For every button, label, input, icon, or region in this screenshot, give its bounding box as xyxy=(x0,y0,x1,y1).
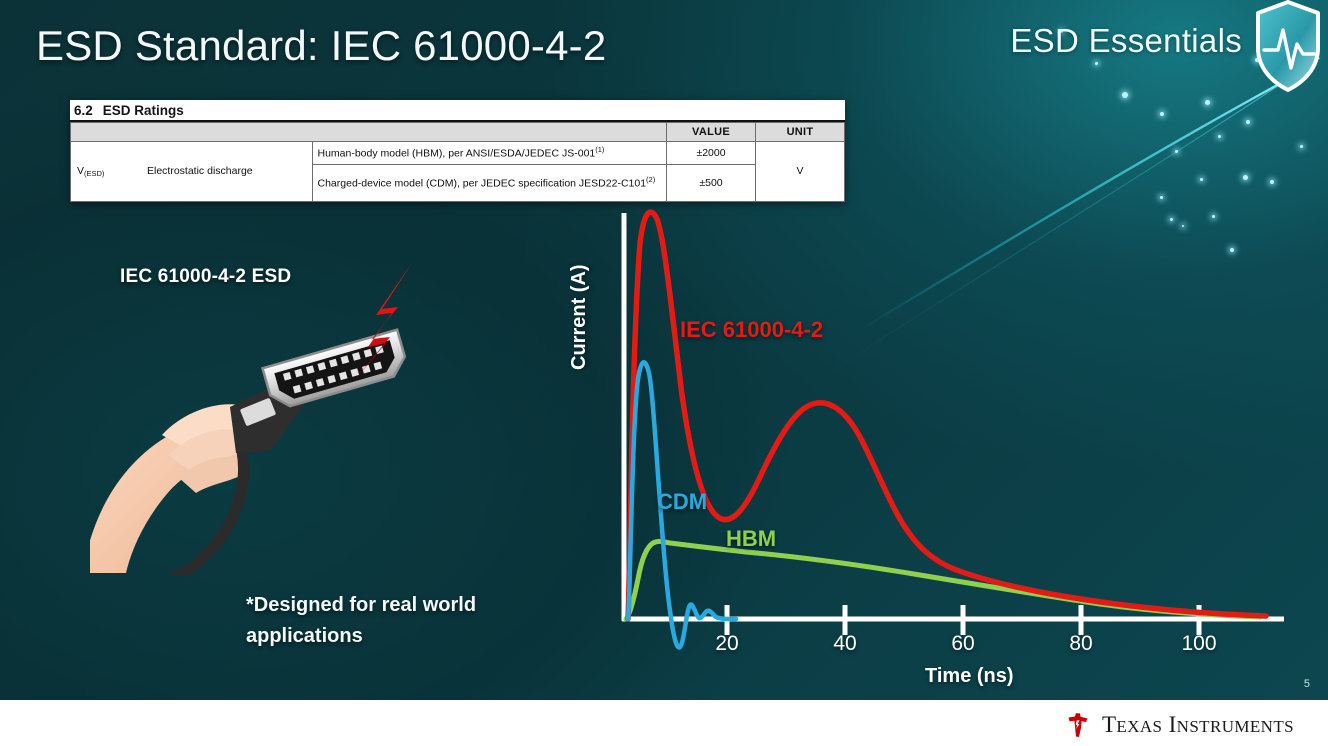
description-text: Human-body model (HBM), per ANSI/ESDA/JE… xyxy=(318,148,596,160)
symbol-text: V xyxy=(77,165,84,177)
x-tick-label: 60 xyxy=(951,632,974,656)
section-title: ESD Ratings xyxy=(103,103,184,118)
series-label-hbm: HBM xyxy=(726,526,776,552)
th-blank-param xyxy=(142,123,312,142)
particle-dot xyxy=(1218,135,1221,138)
page-title: ESD Standard: IEC 61000-4-2 xyxy=(36,22,606,70)
footnote-marker: (1) xyxy=(595,145,604,154)
particle-dot xyxy=(1122,92,1128,98)
particle-dot xyxy=(1160,112,1164,116)
cell-parameter: Electrostatic discharge xyxy=(142,142,312,202)
page-number: 5 xyxy=(1304,678,1310,690)
shield-pulse-icon xyxy=(1250,0,1326,96)
particle-dot xyxy=(1300,145,1303,148)
slide-canvas: ESD Standard: IEC 61000-4-2 ESD Essentia… xyxy=(0,0,1328,746)
particle-dot xyxy=(1175,150,1178,153)
th-blank-symbol xyxy=(71,123,143,142)
particle-dot xyxy=(1205,100,1210,105)
texas-instruments-logo: TEXAS INSTRUMENTS xyxy=(1063,710,1294,740)
th-blank-desc xyxy=(312,123,667,142)
texas-instruments-wordmark: TEXAS INSTRUMENTS xyxy=(1102,712,1294,738)
symbol-subscript: (ESD) xyxy=(84,169,104,178)
esd-ratings-table: 6.2ESD Ratings VALUE UNIT V(ESD) Electro… xyxy=(70,100,845,202)
y-axis-label: Current (A) xyxy=(568,170,591,370)
x-tick-label: 20 xyxy=(715,632,738,656)
particle-dot xyxy=(1243,175,1248,180)
th-unit: UNIT xyxy=(756,123,845,142)
table-section-heading: 6.2ESD Ratings xyxy=(70,100,845,122)
th-value: VALUE xyxy=(667,123,756,142)
esd-waveform-chart xyxy=(560,195,1320,700)
x-tick-label: 100 xyxy=(1181,632,1216,656)
esd-discharge-illustration xyxy=(90,255,430,575)
particle-dot xyxy=(1270,180,1274,184)
footnote-marker: (2) xyxy=(646,175,655,184)
section-number: 6.2 xyxy=(74,103,93,118)
hdmi-connector-icon xyxy=(263,330,410,411)
texas-instruments-logo-icon xyxy=(1063,710,1093,740)
series-label-iec: IEC 61000-4-2 xyxy=(680,317,823,343)
particle-dot xyxy=(1200,178,1203,181)
cell-unit: V xyxy=(756,142,845,202)
x-tick-label: 40 xyxy=(833,632,856,656)
cell-description-hbm: Human-body model (HBM), per ANSI/ESDA/JE… xyxy=(312,142,667,165)
description-text: Charged-device model (CDM), per JEDEC sp… xyxy=(318,177,647,189)
particle-dot xyxy=(1246,120,1250,124)
series-label-cdm: CDM xyxy=(657,489,707,515)
x-tick-label: 80 xyxy=(1069,632,1092,656)
particle-dot xyxy=(1095,62,1098,65)
table-row: V(ESD) Electrostatic discharge Human-bod… xyxy=(71,142,845,165)
footnote-note: *Designed for real world applications xyxy=(246,590,546,652)
cell-value-hbm: ±2000 xyxy=(667,142,756,165)
series-iec xyxy=(628,212,1266,619)
footer-bar: TEXAS INSTRUMENTS xyxy=(0,700,1328,746)
x-axis-label: Time (ns) xyxy=(925,665,1014,688)
table-header-row: VALUE UNIT xyxy=(71,123,845,142)
cell-symbol: V(ESD) xyxy=(71,142,143,202)
brand-label: ESD Essentials xyxy=(1010,22,1242,60)
